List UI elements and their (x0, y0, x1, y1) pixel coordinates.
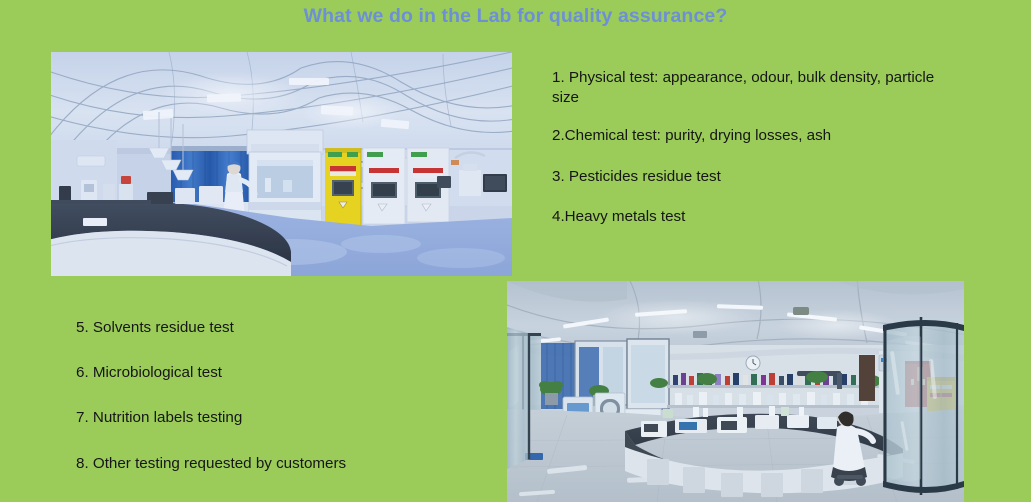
list-item: 2.Chemical test: purity, drying losses, … (552, 126, 952, 146)
lab-panorama-instrument-room-photo (507, 281, 964, 502)
lab-panorama-analytical-room-illustration (51, 52, 512, 276)
list-item: 4.Heavy metals test (552, 207, 952, 227)
list-item: 7. Nutrition labels testing (76, 408, 496, 428)
quality-test-list-right: 1. Physical test: appearance, odour, bul… (552, 68, 952, 247)
slide-canvas: What we do in the Lab for quality assura… (0, 0, 1031, 502)
lab-panorama-analytical-room-photo (51, 52, 512, 276)
list-item: 1. Physical test: appearance, odour, bul… (552, 68, 952, 108)
list-item: 8. Other testing requested by customers (76, 454, 496, 474)
lab-panorama-instrument-room-illustration (507, 281, 964, 502)
list-item: 6. Microbiological test (76, 363, 496, 383)
page-title: What we do in the Lab for quality assura… (0, 5, 1031, 28)
list-item: 3. Pesticides residue test (552, 167, 952, 187)
quality-test-list-left: 5. Solvents residue test 6. Microbiologi… (76, 318, 496, 499)
list-item: 5. Solvents residue test (76, 318, 496, 338)
